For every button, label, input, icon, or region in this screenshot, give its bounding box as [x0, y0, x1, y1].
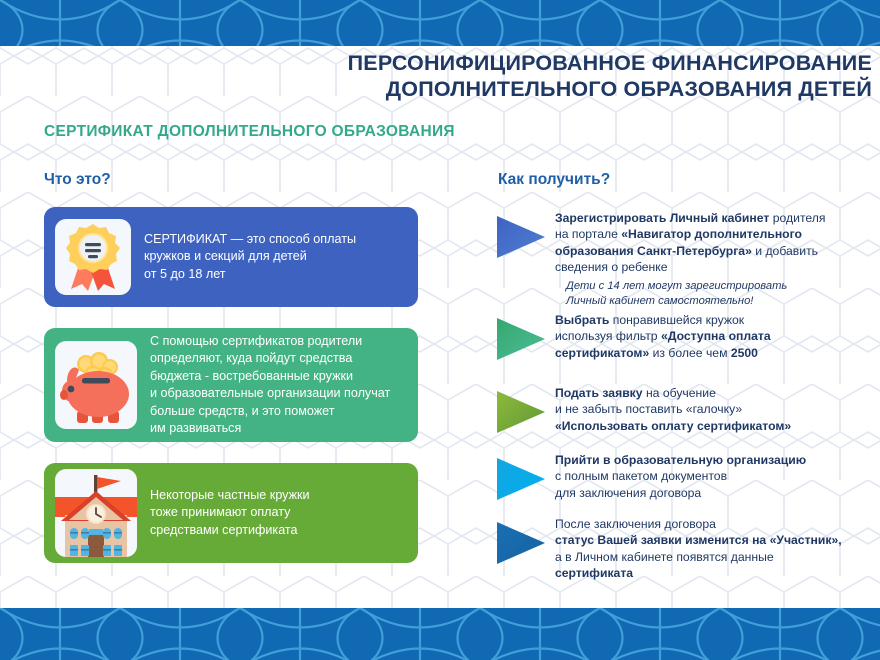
arrow-right-icon — [494, 454, 548, 504]
arrow-right-icon — [494, 212, 548, 262]
wave-pattern-bottom — [0, 608, 880, 660]
info-card-private-clubs: Некоторые частные кружки тоже принимают … — [44, 463, 418, 563]
page-subtitle: СЕРТИФИКАТ ДОПОЛНИТЕЛЬНОГО ОБРАЗОВАНИЯ — [44, 123, 455, 141]
bottom-blue-band — [0, 608, 880, 660]
step-text-1: Зарегистрировать Личный кабинет родителя… — [555, 210, 825, 276]
step-text-4: Прийти в образовательную организациюс по… — [555, 452, 806, 501]
infographic-poster: ПЕРСОНИФИЦИРОВАННОЕ ФИНАНСИРОВАНИЕ ДОПОЛ… — [0, 0, 880, 660]
right-column-heading: Как получить? — [498, 171, 610, 189]
piggy-bank-icon — [55, 341, 137, 429]
step-item-5: После заключения договорастатус Вашей за… — [494, 516, 880, 582]
info-card-certificate-text: СЕРТИФИКАТ — это способ оплаты кружков и… — [144, 231, 356, 284]
left-column-heading: Что это? — [44, 171, 111, 189]
info-card-private-clubs-text: Некоторые частные кружки тоже принимают … — [150, 487, 310, 540]
step-item-3: Подать заявку на обучениеи не забыть пос… — [494, 385, 880, 437]
award-rosette-icon — [55, 219, 131, 295]
wave-pattern-top — [0, 0, 880, 46]
step-text-5: После заключения договорастатус Вашей за… — [555, 516, 842, 582]
step-note: Дети с 14 лет могут зарегистрировать Лич… — [494, 277, 880, 309]
step-item-2: Выбрать понравившейся кружокиспользуя фи… — [494, 312, 880, 364]
title-line-2: ДОПОЛНИТЕЛЬНОГО ОБРАЗОВАНИЯ ДЕТЕЙ — [324, 76, 872, 102]
info-card-budget: С помощью сертификатов родители определя… — [44, 328, 418, 442]
arrow-right-icon — [494, 387, 548, 437]
info-card-certificate: СЕРТИФИКАТ — это способ оплаты кружков и… — [44, 207, 418, 307]
arrow-right-icon — [494, 314, 548, 364]
info-card-budget-text: С помощью сертификатов родители определя… — [150, 333, 390, 438]
step-text-2: Выбрать понравившейся кружокиспользуя фи… — [555, 312, 771, 361]
school-building-icon — [55, 469, 137, 557]
step-text-3: Подать заявку на обучениеи не забыть пос… — [555, 385, 791, 434]
arrow-right-icon — [494, 518, 548, 568]
top-blue-band — [0, 0, 880, 46]
step-note-text: Дети с 14 лет могут зарегистрировать Лич… — [494, 279, 880, 309]
step-item-1: Зарегистрировать Личный кабинет родителя… — [494, 210, 880, 276]
page-title: ПЕРСОНИФИЦИРОВАННОЕ ФИНАНСИРОВАНИЕ ДОПОЛ… — [324, 50, 872, 102]
title-line-1: ПЕРСОНИФИЦИРОВАННОЕ ФИНАНСИРОВАНИЕ — [324, 50, 872, 76]
step-item-4: Прийти в образовательную организациюс по… — [494, 452, 880, 504]
